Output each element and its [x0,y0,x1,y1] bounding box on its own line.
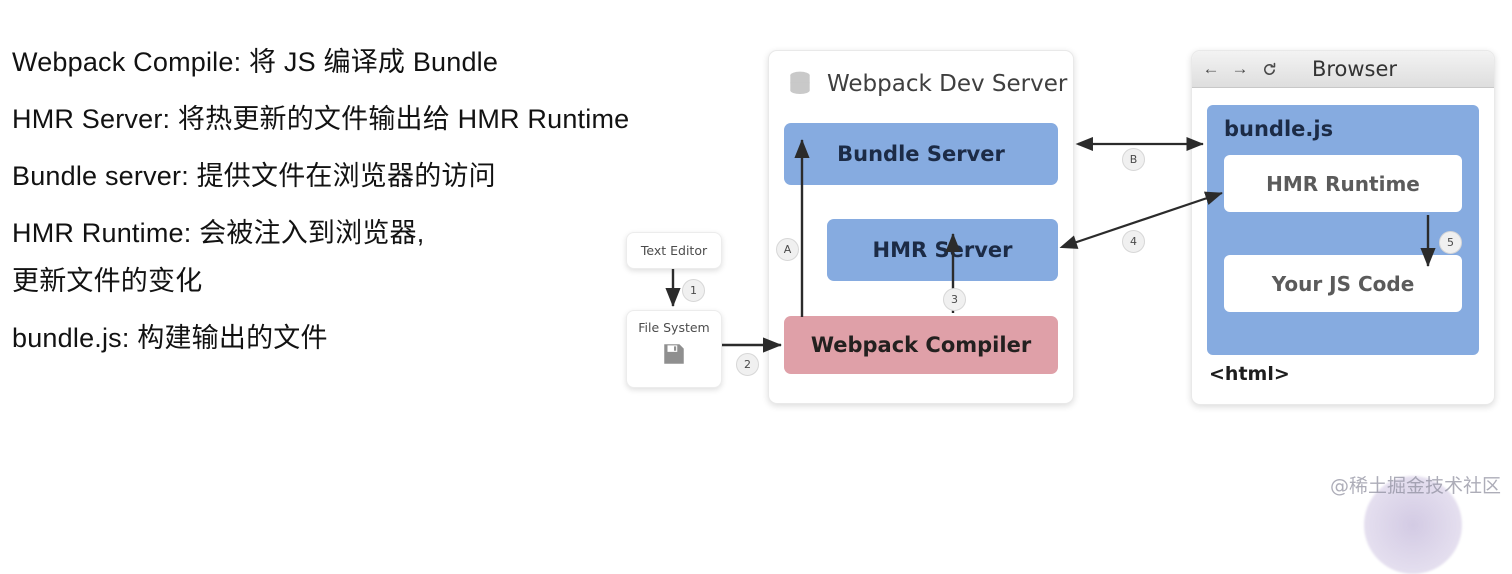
arrow-badge-label: B [1130,153,1138,166]
your-js-code-label: Your JS Code [1272,272,1415,296]
webpack-compiler-box[interactable]: Webpack Compiler [784,316,1058,374]
arrow-badge-label: A [784,243,792,256]
file-system-label: File System [638,320,710,335]
arrow-badge-2: 2 [736,353,759,376]
database-icon [787,71,813,104]
note-line: HMR Server: 将热更新的文件输出给 HMR Runtime [12,103,762,136]
arrow-badge-b: B [1122,148,1145,171]
bundle-js-box[interactable]: bundle.js HMR Runtime Your JS Code [1207,105,1479,355]
html-tag-label: <html> [1209,363,1290,385]
text-editor-label: Text Editor [641,243,707,258]
webpack-compiler-label: Webpack Compiler [811,333,1031,357]
note-line: 更新文件的变化 [12,265,762,298]
dev-server-title: Webpack Dev Server [827,71,1067,97]
bundle-server-label: Bundle Server [837,142,1005,166]
file-system-card[interactable]: File System [626,310,722,388]
arrow-badge-1: 1 [682,279,705,302]
webpack-dev-server-panel: Webpack Dev Server Bundle Server HMR Ser… [768,50,1074,404]
browser-toolbar: ← → Browser [1192,51,1494,88]
floppy-disk-icon [661,341,687,372]
arrow-badge-5: 5 [1439,231,1462,254]
arrow-left-icon[interactable]: ← [1201,59,1221,79]
hmr-runtime-box[interactable]: HMR Runtime [1224,155,1462,212]
screenshot-root: Webpack Compile: 将 JS 编译成 Bundle HMR Ser… [0,0,1512,506]
text-editor-card[interactable]: Text Editor [626,232,722,269]
note-block-1: Webpack Compile: 将 JS 编译成 Bundle [12,46,762,79]
watermark-text: @稀土掘金技术社区 [1330,471,1501,498]
browser-title: Browser [1279,57,1494,81]
hmr-server-box[interactable]: HMR Server [827,219,1058,281]
hmr-server-label: HMR Server [873,238,1013,262]
arrow-right-icon[interactable]: → [1230,59,1250,79]
arrow-badge-label: 2 [744,358,751,371]
arrow-badge-3: 3 [943,288,966,311]
arrow-badge-4: 4 [1122,230,1145,253]
arrow-badge-label: 3 [951,293,958,306]
hmr-runtime-label: HMR Runtime [1266,172,1420,196]
note-line: Bundle server: 提供文件在浏览器的访问 [12,160,762,193]
bundle-server-box[interactable]: Bundle Server [784,123,1058,185]
bundle-js-label: bundle.js [1224,117,1333,141]
arrow-badge-label: 4 [1130,235,1137,248]
note-block-3: Bundle server: 提供文件在浏览器的访问 [12,160,762,193]
note-block-2: HMR Server: 将热更新的文件输出给 HMR Runtime [12,103,762,136]
note-line: Webpack Compile: 将 JS 编译成 Bundle [12,46,762,79]
browser-panel: ← → Browser bundle.js HMR Runtime Your J… [1191,50,1495,405]
your-js-code-box[interactable]: Your JS Code [1224,255,1462,312]
reload-icon[interactable] [1259,59,1279,79]
arrow-badge-a: A [776,238,799,261]
arrow-badge-label: 5 [1447,236,1454,249]
arrow-badge-label: 1 [690,284,697,297]
